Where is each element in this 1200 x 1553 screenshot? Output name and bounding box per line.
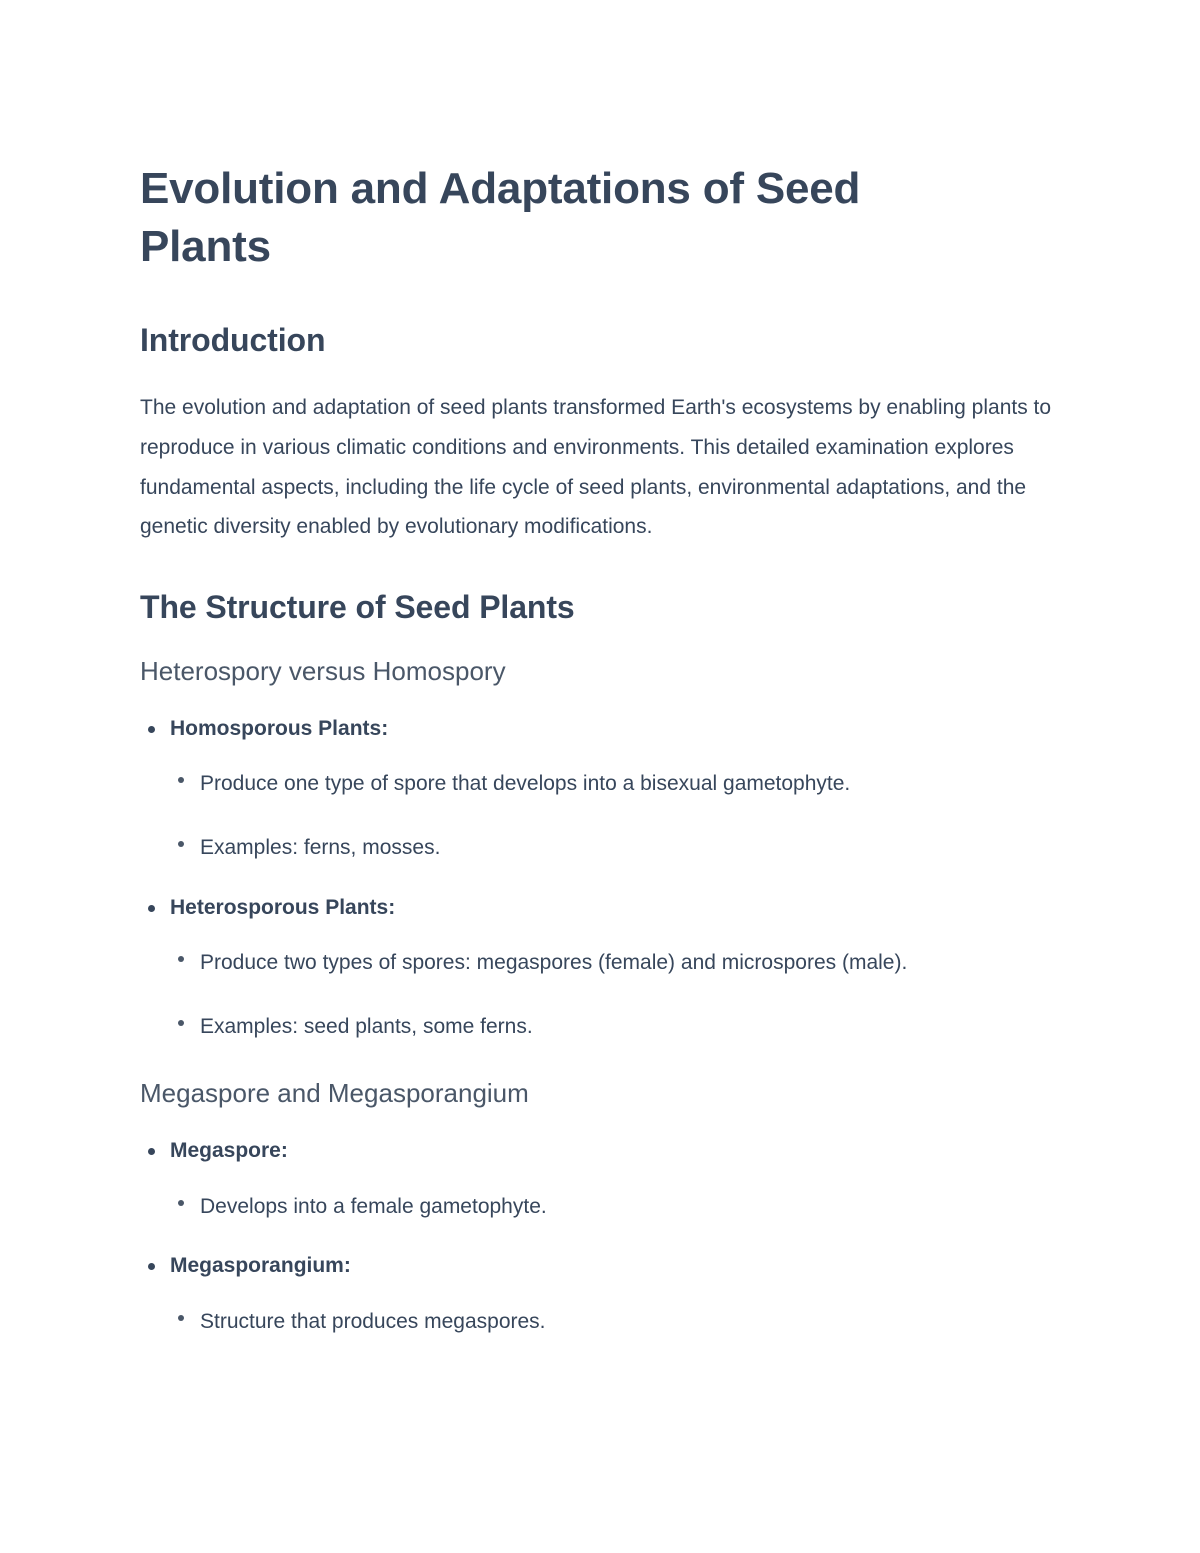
bullet-icon [178, 777, 184, 783]
list-item: Structure that produces megaspores. [170, 1302, 1060, 1342]
bullet-icon [178, 1200, 184, 1206]
section-structure-of-seed-plants: The Structure of Seed Plants Heterospory… [140, 587, 1060, 1342]
list-item-label: Examples: seed plants, some ferns. [200, 1007, 1060, 1047]
list-item-label: Examples: ferns, mosses. [200, 828, 1060, 868]
heading-introduction: Introduction [140, 320, 1060, 362]
sublist: Produce one type of spore that develops … [170, 764, 1060, 868]
introduction-paragraph: The evolution and adaptation of seed pla… [140, 388, 1060, 548]
heading-structure-of-seed-plants: The Structure of Seed Plants [140, 587, 1060, 629]
list-item: Megasporangium: Structure that produces … [140, 1250, 1060, 1341]
sublist: Structure that produces megaspores. [170, 1302, 1060, 1342]
bullet-icon [148, 905, 155, 912]
bullet-icon [148, 726, 155, 733]
list-item-label: Heterosporous Plants: [170, 892, 1060, 924]
list-item: Megaspore: Develops into a female gameto… [140, 1135, 1060, 1226]
bullet-icon [178, 841, 184, 847]
section-introduction: Introduction The evolution and adaptatio… [140, 320, 1060, 547]
bullet-icon [148, 1263, 155, 1270]
list-item-label: Produce two types of spores: megaspores … [200, 943, 1060, 983]
list-item: Examples: ferns, mosses. [170, 828, 1060, 868]
list-item-label: Produce one type of spore that develops … [200, 764, 1060, 804]
document-page: Evolution and Adaptations of Seed Plants… [0, 0, 1200, 1553]
sublist: Produce two types of spores: megaspores … [170, 943, 1060, 1047]
heading-heterospory-versus-homospory: Heterospory versus Homospory [140, 655, 1060, 689]
list-item-label: Homosporous Plants: [170, 713, 1060, 745]
list-item: Produce two types of spores: megaspores … [170, 943, 1060, 983]
bullet-icon [178, 1020, 184, 1026]
list-item: Develops into a female gametophyte. [170, 1187, 1060, 1227]
bullet-icon [178, 1315, 184, 1321]
list-item-label: Develops into a female gametophyte. [200, 1187, 1060, 1227]
list-item: Produce one type of spore that develops … [170, 764, 1060, 804]
bullet-icon [148, 1148, 155, 1155]
list-item-label: Megasporangium: [170, 1250, 1060, 1282]
bullet-icon [178, 956, 184, 962]
sublist: Develops into a female gametophyte. [170, 1187, 1060, 1227]
list-item: Examples: seed plants, some ferns. [170, 1007, 1060, 1047]
heading-megaspore-and-megasporangium: Megaspore and Megasporangium [140, 1077, 1060, 1111]
list-item: Homosporous Plants: Produce one type of … [140, 713, 1060, 868]
list-item-label: Megaspore: [170, 1135, 1060, 1167]
list-megaspore: Megaspore: Develops into a female gameto… [140, 1135, 1060, 1342]
list-item-label: Structure that produces megaspores. [200, 1302, 1060, 1342]
page-title: Evolution and Adaptations of Seed Plants [140, 160, 970, 276]
list-heterospory: Homosporous Plants: Produce one type of … [140, 713, 1060, 1048]
list-item: Heterosporous Plants: Produce two types … [140, 892, 1060, 1047]
